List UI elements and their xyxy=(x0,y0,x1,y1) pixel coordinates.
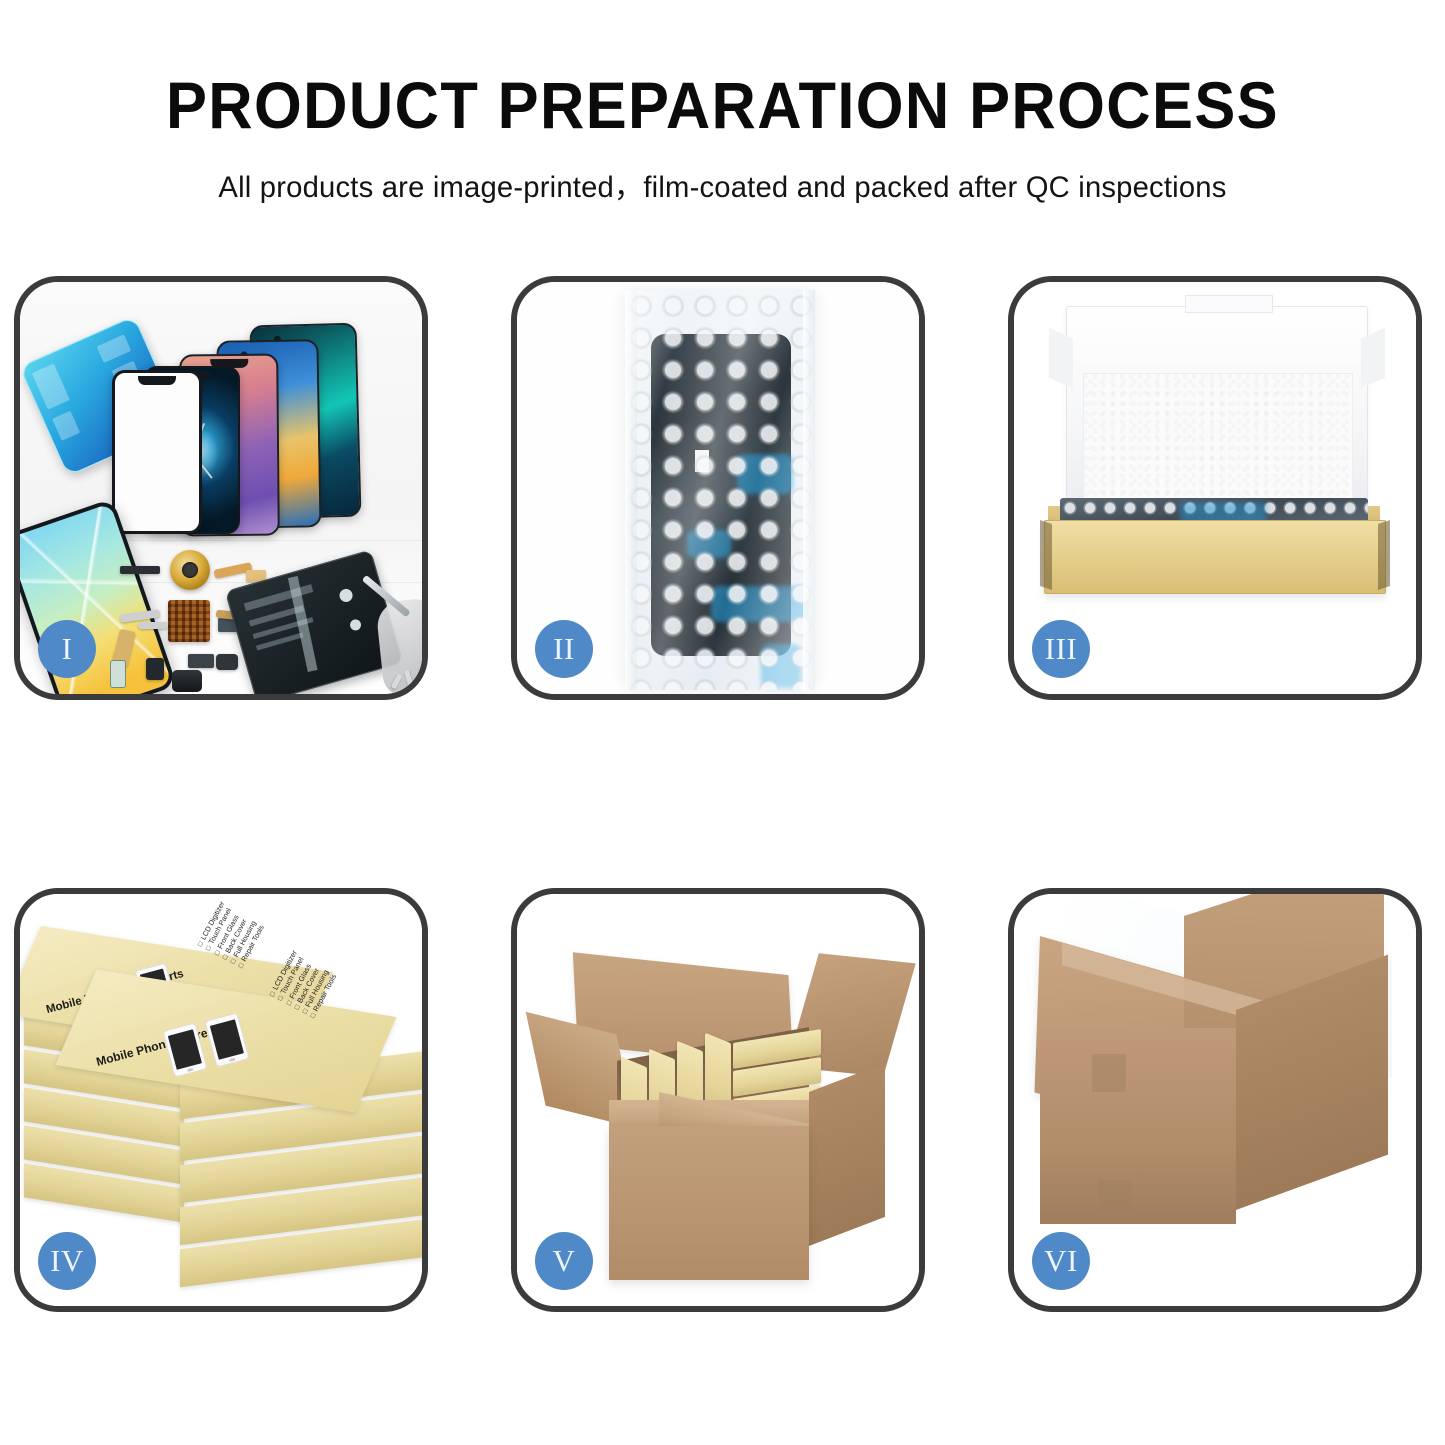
step-panel-5: V xyxy=(511,888,925,1312)
screws xyxy=(394,670,428,694)
carton-front-panel xyxy=(609,1126,809,1280)
wireless-charging-coil xyxy=(170,550,210,590)
tape-tab-upper xyxy=(1092,1054,1126,1092)
box-lid xyxy=(1066,306,1368,528)
carton-side-panel xyxy=(809,1063,885,1246)
step-badge-5: V xyxy=(535,1232,593,1290)
phone-front-glass xyxy=(112,370,202,534)
step-badge-2: II xyxy=(535,620,593,678)
carton-front-left xyxy=(1040,1028,1236,1224)
small-component xyxy=(146,658,164,680)
product-preparation-infographic: PRODUCT PREPARATION PROCESS All products… xyxy=(0,0,1445,1445)
earpiece-mesh xyxy=(120,566,160,574)
step-panel-3: III xyxy=(1008,276,1422,700)
tweezers-icon xyxy=(364,574,424,638)
flex-cable xyxy=(138,622,168,629)
box-tray-front xyxy=(1044,520,1386,594)
step-panel-4: Mobile Phone Spare Parts LCD Digitizer T… xyxy=(14,888,428,1312)
small-component xyxy=(216,654,238,670)
integrated-circuit-chip xyxy=(168,600,210,642)
step-badge-1: I xyxy=(38,620,96,678)
process-steps-grid: 08:08 xyxy=(0,0,1445,1445)
step-panel-2: II xyxy=(511,276,925,700)
loudspeaker-module xyxy=(172,670,202,692)
box-edge-right xyxy=(1378,520,1390,590)
sim-card-tray xyxy=(110,660,126,688)
vibration-motor xyxy=(188,654,214,668)
step-badge-4: IV xyxy=(38,1232,96,1290)
bubble-wrapped-screen xyxy=(625,290,815,690)
step-panel-1: 08:08 xyxy=(14,276,428,700)
step-badge-6: VI xyxy=(1032,1232,1090,1290)
step-panel-6: VI xyxy=(1008,888,1422,1312)
tape-tab-lower xyxy=(1098,1180,1132,1214)
box-edge-left xyxy=(1040,520,1052,590)
step-badge-3: III xyxy=(1032,620,1090,678)
plastic-sheen xyxy=(625,290,815,690)
